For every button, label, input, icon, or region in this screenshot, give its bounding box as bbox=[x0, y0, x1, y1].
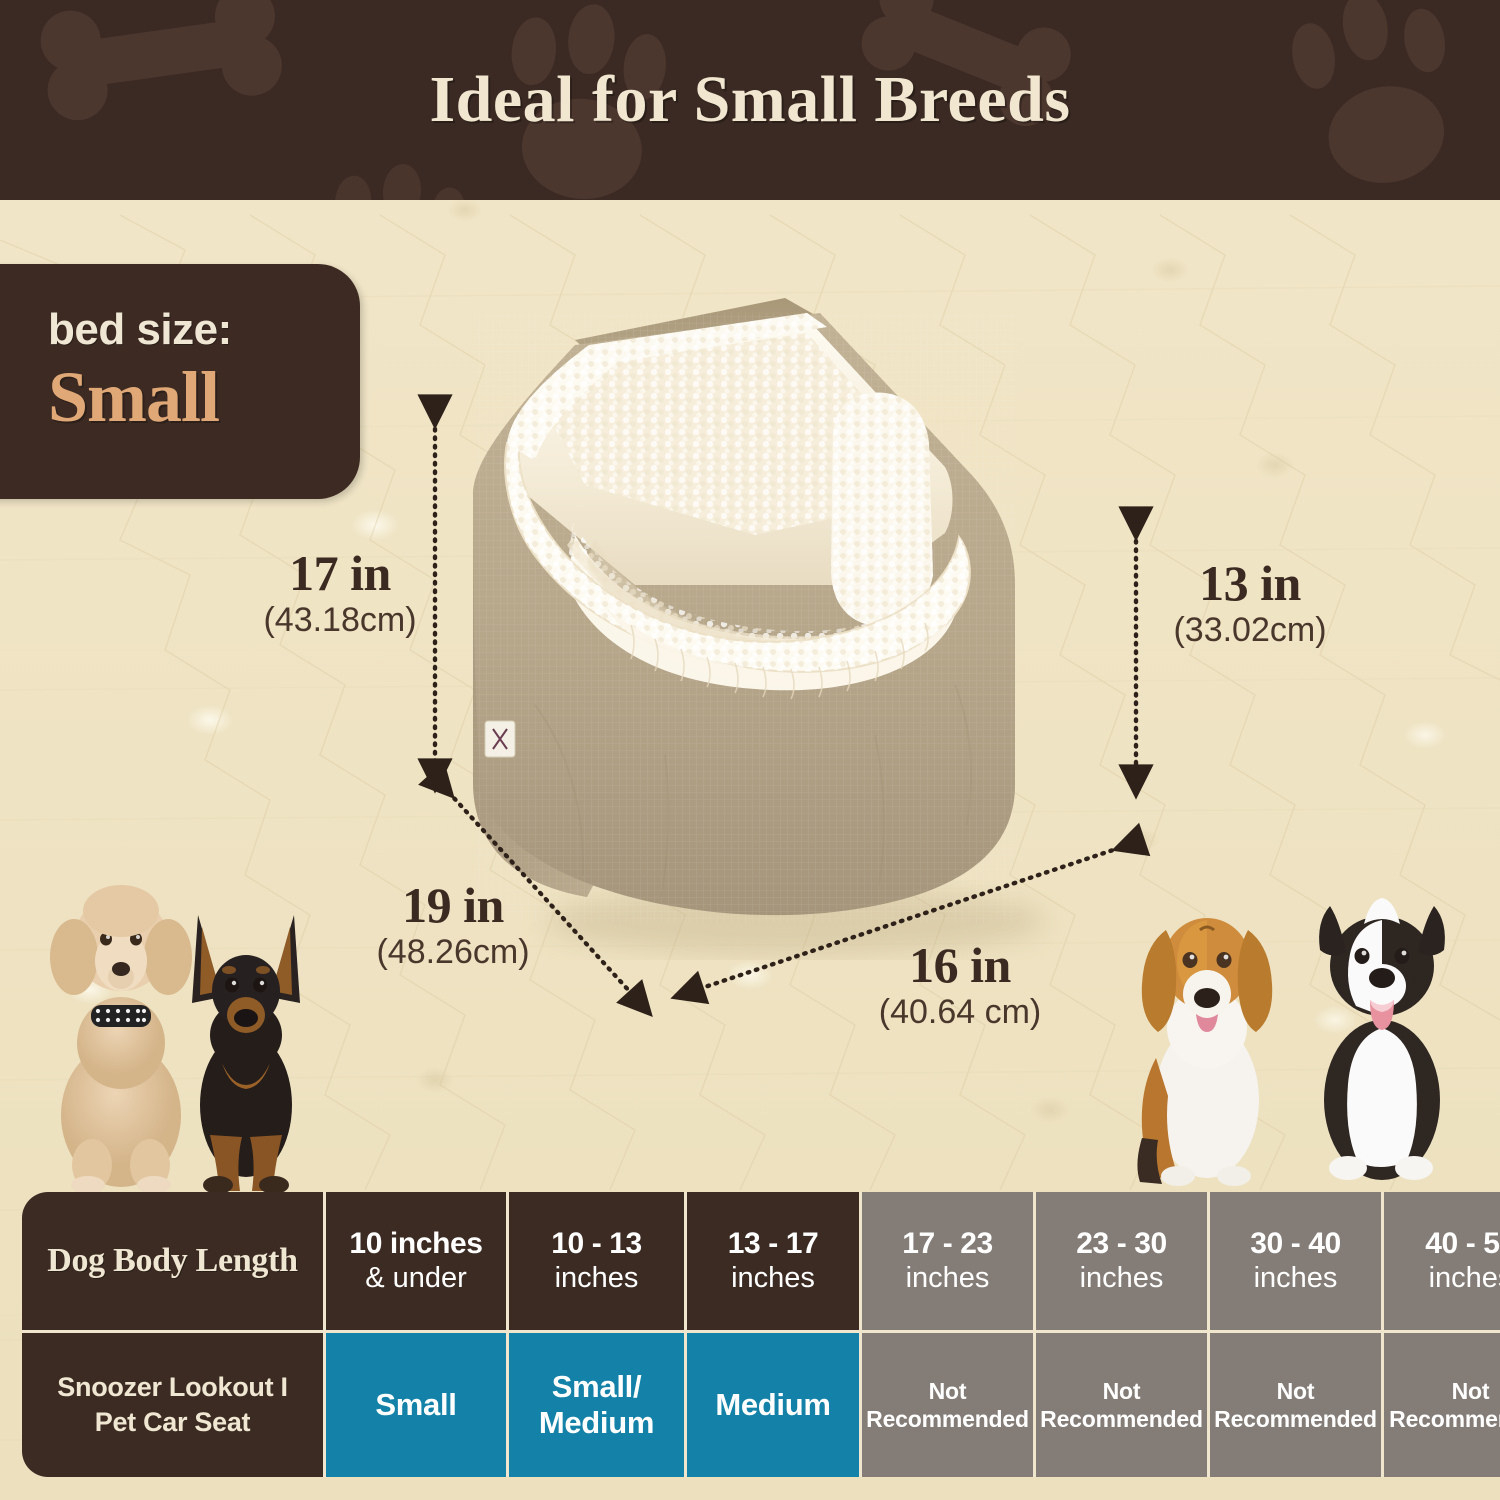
dimension-height-front: 13 in (33.02cm) bbox=[1150, 558, 1350, 652]
product-name-line1: Snoozer Lookout I bbox=[57, 1372, 287, 1402]
dimension-metric: (33.02cm) bbox=[1150, 609, 1350, 652]
dimension-inches: 13 in bbox=[1150, 558, 1350, 609]
fit-cell-5: Not Recommended bbox=[1210, 1333, 1384, 1477]
fit-value-5: Not bbox=[1277, 1378, 1315, 1404]
table-product-row: Snoozer Lookout I Pet Car Seat Small Sma… bbox=[22, 1333, 1500, 1477]
range-top-3: 17 - 23 bbox=[866, 1227, 1029, 1262]
dog-photo-miniature-pinscher bbox=[176, 885, 316, 1195]
fit-value-3: Not bbox=[929, 1378, 967, 1404]
range-top-4: 23 - 30 bbox=[1040, 1227, 1203, 1262]
header-cell-6: 40 - 50 inches bbox=[1384, 1192, 1500, 1333]
range-top-2: 13 - 17 bbox=[691, 1227, 855, 1262]
pet-car-seat-product-image bbox=[455, 285, 1115, 960]
dimension-height-back: 17 in (43.18cm) bbox=[240, 548, 440, 642]
header-cell-2: 13 - 17 inches bbox=[687, 1192, 862, 1333]
dimension-metric: (48.26cm) bbox=[348, 931, 558, 974]
dimension-metric: (43.18cm) bbox=[240, 599, 440, 642]
product-row-label-cell: Snoozer Lookout I Pet Car Seat bbox=[22, 1333, 326, 1477]
page-title: Ideal for Small Breeds bbox=[0, 0, 1500, 200]
fit-value-5b: Recommended bbox=[1214, 1406, 1377, 1432]
table-header-row: Dog Body Length 10 inches & under 10 - 1… bbox=[22, 1192, 1500, 1333]
dog-photo-beagle bbox=[1122, 868, 1292, 1198]
header-cell-3: 17 - 23 inches bbox=[862, 1192, 1036, 1333]
range-top-1: 10 - 13 bbox=[513, 1227, 680, 1262]
fit-value-1: Small/ bbox=[552, 1369, 642, 1404]
header-cell-1: 10 - 13 inches bbox=[509, 1192, 687, 1333]
fit-value-0: Small bbox=[375, 1387, 456, 1422]
brand-tag bbox=[485, 721, 515, 757]
table-header-label-cell: Dog Body Length bbox=[22, 1192, 326, 1333]
fit-value-6b: Recommended bbox=[1389, 1406, 1500, 1432]
dimension-depth: 19 in (48.26cm) bbox=[348, 880, 558, 974]
fit-value-2: Medium bbox=[715, 1387, 830, 1422]
fit-cell-4: Not Recommended bbox=[1036, 1333, 1210, 1477]
range-bottom-2: inches bbox=[691, 1261, 855, 1295]
fit-value-6: Not bbox=[1452, 1378, 1490, 1404]
fit-cell-0: Small bbox=[326, 1333, 509, 1477]
bed-size-badge: bed size: Small bbox=[0, 264, 360, 499]
infographic-page: Ideal for Small Breeds bed size: Small bbox=[0, 0, 1500, 1500]
fit-value-3b: Recommended bbox=[866, 1406, 1029, 1432]
range-top-6: 40 - 50 bbox=[1388, 1227, 1500, 1262]
dimension-inches: 19 in bbox=[348, 880, 558, 931]
range-bottom-5: inches bbox=[1214, 1261, 1377, 1295]
range-bottom-1: inches bbox=[513, 1261, 680, 1295]
range-bottom-0: & under bbox=[330, 1261, 502, 1295]
product-name-line2: Pet Car Seat bbox=[95, 1407, 250, 1437]
fit-value-4: Not bbox=[1103, 1378, 1141, 1404]
bed-size-label: bed size: bbox=[48, 308, 360, 352]
dimension-inches: 17 in bbox=[240, 548, 440, 599]
dog-body-length-label: Dog Body Length bbox=[26, 1241, 319, 1281]
range-bottom-4: inches bbox=[1040, 1261, 1203, 1295]
header-cell-4: 23 - 30 inches bbox=[1036, 1192, 1210, 1333]
header-cell-5: 30 - 40 inches bbox=[1210, 1192, 1384, 1333]
fit-value-4b: Recommended bbox=[1040, 1406, 1203, 1432]
bed-size-value: Small bbox=[48, 360, 360, 436]
fit-cell-3: Not Recommended bbox=[862, 1333, 1036, 1477]
dimension-metric: (40.64 cm) bbox=[845, 991, 1075, 1034]
dog-photo-border-collie bbox=[1300, 862, 1465, 1197]
range-top-5: 30 - 40 bbox=[1214, 1227, 1377, 1262]
page-header: Ideal for Small Breeds bbox=[0, 0, 1500, 200]
header-cell-0: 10 inches & under bbox=[326, 1192, 509, 1333]
range-bottom-3: inches bbox=[866, 1261, 1029, 1295]
range-bottom-6: inches bbox=[1388, 1261, 1500, 1295]
size-comparison-table: Dog Body Length 10 inches & under 10 - 1… bbox=[22, 1192, 1472, 1477]
fit-cell-6: Not Recommended bbox=[1384, 1333, 1500, 1477]
dimension-inches: 16 in bbox=[845, 940, 1075, 991]
dimension-width: 16 in (40.64 cm) bbox=[845, 940, 1075, 1034]
fit-value-1b: Medium bbox=[539, 1405, 654, 1440]
fit-cell-1: Small/ Medium bbox=[509, 1333, 687, 1477]
fit-cell-2: Medium bbox=[687, 1333, 862, 1477]
range-top-0: 10 inches bbox=[330, 1227, 502, 1262]
